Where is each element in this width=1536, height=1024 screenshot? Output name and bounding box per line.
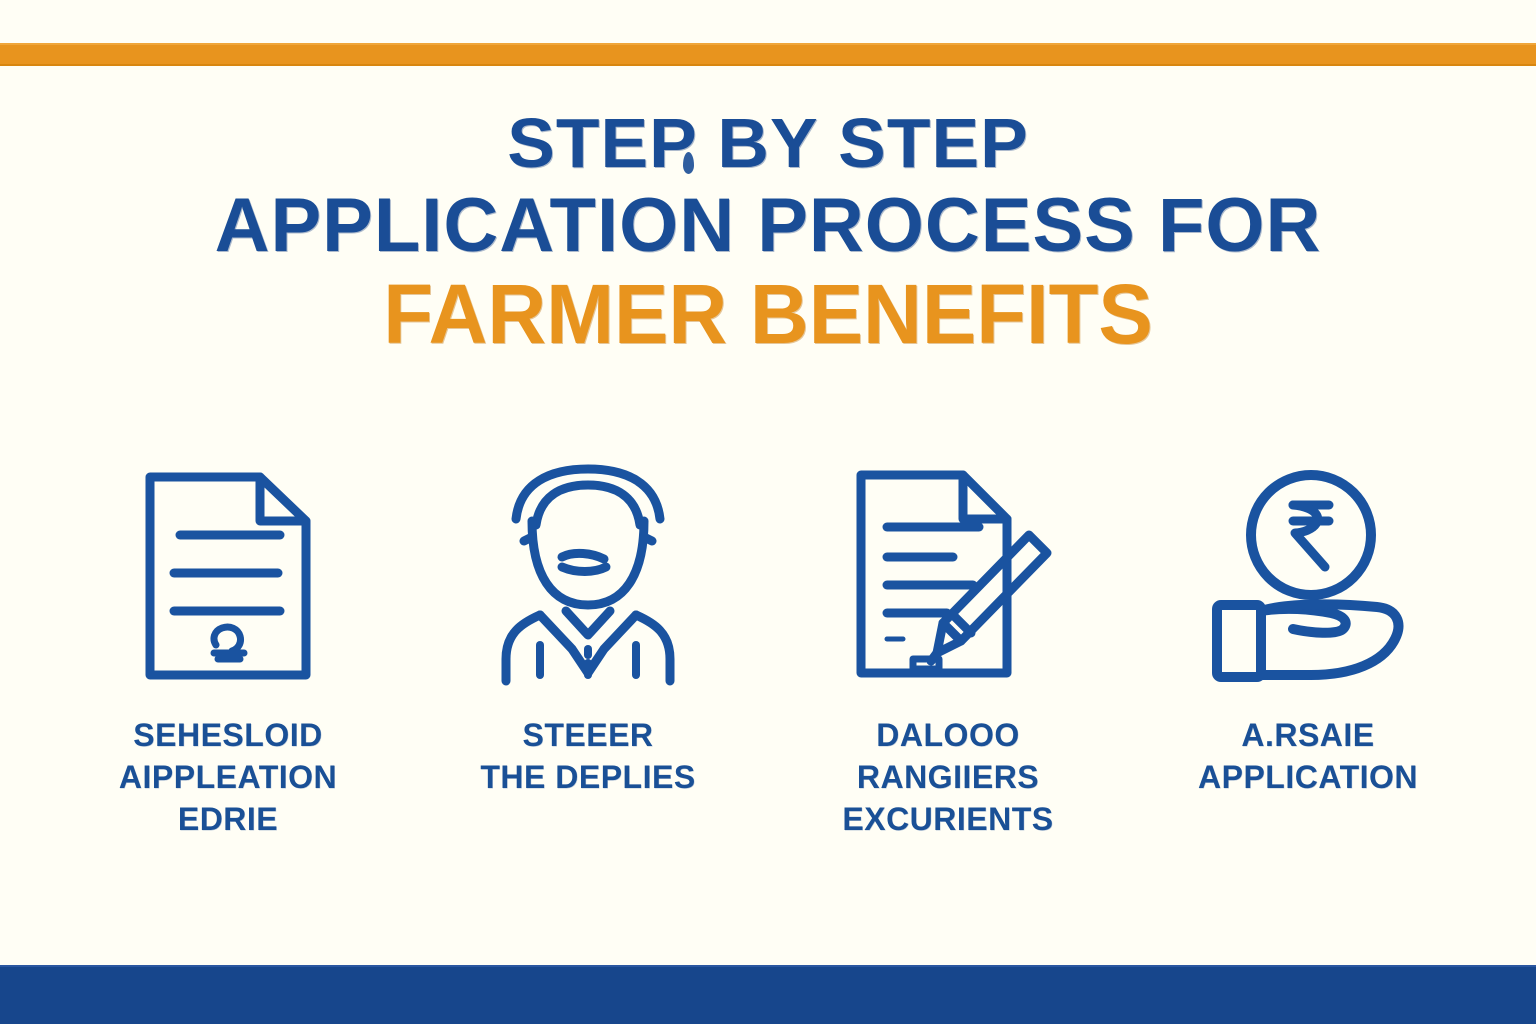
title-line-1: STEP BY STEP	[0, 108, 1536, 178]
step-2-caption: STEEER THE DEPLIES	[480, 714, 695, 798]
step-3-caption-line-2: RANGIIERS	[842, 756, 1053, 798]
top-orange-band	[0, 43, 1536, 66]
step-2-caption-line-2: THE DEPLIES	[480, 756, 695, 798]
hand-holding-rupee-coin-icon	[1201, 463, 1416, 688]
step-3-caption-line-1: DALOOO	[842, 714, 1053, 756]
step-1-caption-line-1: SEHESLOID	[119, 714, 337, 756]
step-4-caption: A.RSAIE APPLICATION	[1198, 714, 1418, 798]
step-4-caption-line-2: APPLICATION	[1198, 756, 1418, 798]
step-4-caption-line-1: A.RSAIE	[1198, 714, 1418, 756]
step-3-caption: DALOOO RANGIIERS EXCURIENTS	[842, 714, 1053, 841]
document-with-seal-icon	[128, 463, 328, 688]
top-band-highlight	[0, 43, 1536, 45]
step-1-caption-line-3: EDRIE	[119, 798, 337, 840]
step-item-4[interactable]: A.RSAIE APPLICATION	[1158, 460, 1458, 841]
steps-row: SEHESLOID AIPPLEATION EDRIE	[0, 460, 1536, 841]
ink-blot-artifact	[683, 152, 694, 174]
step-item-3[interactable]: DALOOO RANGIIERS EXCURIENTS	[798, 460, 1098, 841]
top-margin	[0, 0, 1536, 43]
title-block: STEP BY STEP APPLICATION PROCESS FOR FAR…	[0, 108, 1536, 356]
step-2-icon-wrap	[438, 460, 738, 690]
title-line-2: APPLICATION PROCESS FOR	[0, 188, 1536, 264]
bottom-blue-band	[0, 965, 1536, 1024]
document-with-pen-icon	[843, 463, 1053, 688]
bottom-band-highlight	[0, 965, 1536, 967]
step-2-caption-line-1: STEEER	[480, 714, 695, 756]
step-4-icon-wrap	[1158, 460, 1458, 690]
step-3-caption-line-3: EXCURIENTS	[842, 798, 1053, 840]
title-line-3: FARMER BENEFITS	[23, 272, 1513, 356]
poster-canvas: STEP BY STEP APPLICATION PROCESS FOR FAR…	[0, 0, 1536, 1024]
step-1-caption: SEHESLOID AIPPLEATION EDRIE	[119, 714, 337, 841]
step-item-1[interactable]: SEHESLOID AIPPLEATION EDRIE	[78, 460, 378, 841]
step-1-icon-wrap	[78, 460, 378, 690]
step-1-caption-line-2: AIPPLEATION	[119, 756, 337, 798]
step-3-icon-wrap	[798, 460, 1098, 690]
step-item-2[interactable]: STEEER THE DEPLIES	[438, 460, 738, 841]
top-band-shadow	[0, 64, 1536, 66]
farmer-person-icon	[488, 463, 688, 688]
